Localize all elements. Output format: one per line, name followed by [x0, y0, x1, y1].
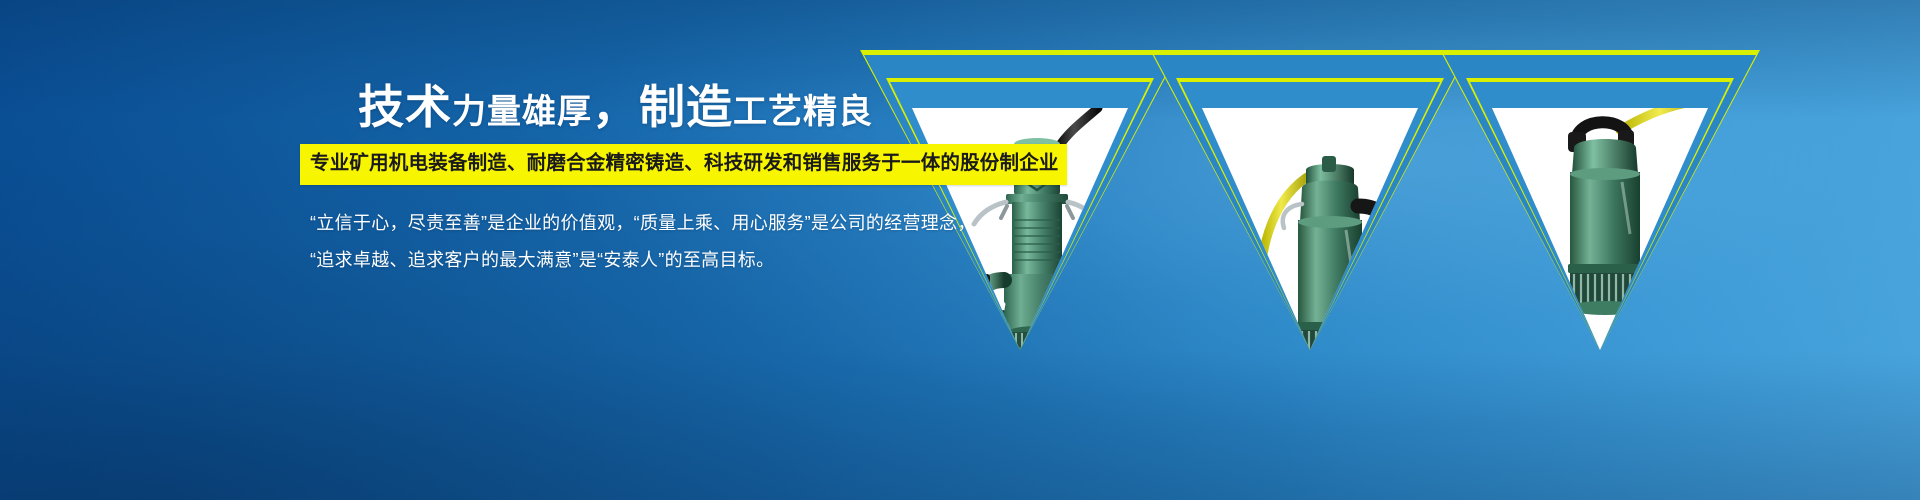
headline-segment-1: 技术: [358, 81, 452, 133]
banner-body-line-2: “追求卓越、追求客户的最大满意”是“安泰人”的至高目标。: [310, 242, 920, 279]
headline-segment-5: 工艺精良: [733, 93, 873, 131]
headline-segment-3: ，: [592, 81, 639, 133]
headline-segment-4: 制造: [639, 81, 733, 133]
banner-text-column: 技术力量雄厚，制造工艺精良 专业矿用机电装备制造、耐磨合金精密铸造、科技研发和销…: [300, 84, 920, 279]
banner-body-text: “立信于心，尽责至善”是企业的价值观，“质量上乘、用心服务”是公司的经营理念， …: [310, 205, 920, 279]
gallery-item-triangle-3[interactable]: [1440, 50, 1760, 350]
banner-body-line-1: “立信于心，尽责至善”是企业的价值观，“质量上乘、用心服务”是公司的经营理念，: [310, 205, 920, 242]
product-gallery: [860, 50, 1890, 380]
headline-segment-2: 力量雄厚: [452, 93, 592, 131]
promotional-banner: 技术力量雄厚，制造工艺精良 专业矿用机电装备制造、耐磨合金精密铸造、科技研发和销…: [0, 0, 1920, 500]
submersible-pump-icon: [1202, 108, 1418, 350]
banner-highlight-bar: 专业矿用机电装备制造、耐磨合金精密铸造、科技研发和销售服务于一体的股份制企业: [300, 144, 1067, 185]
submersible-pump-icon: [1492, 108, 1708, 350]
triangle-photo-area-3: [1492, 108, 1708, 350]
gallery-item-triangle-2[interactable]: [1150, 50, 1470, 350]
triangle-photo-area-2: [1202, 108, 1418, 350]
banner-headline: 技术力量雄厚，制造工艺精良: [358, 84, 920, 130]
